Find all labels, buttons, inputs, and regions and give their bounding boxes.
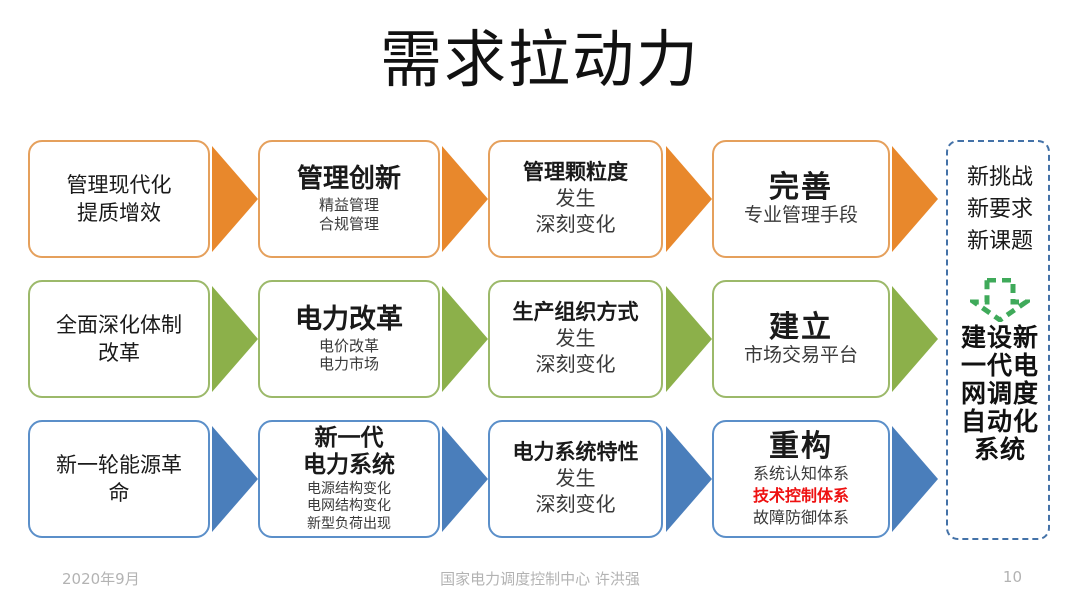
box-sub: 发生 深刻变化 bbox=[536, 325, 616, 377]
process-row-1: 管理现代化 提质增效 管理创新 精益管理 合规管理 管理颗粒度 发生 深刻变化 … bbox=[0, 140, 1080, 260]
process-row-3: 新一轮能源革 命 新一代 电力系统 电源结构变化 电网结构变化 新型负荷出现 电… bbox=[0, 420, 1080, 540]
footer-page-number: 10 bbox=[1003, 568, 1022, 586]
box-sub: 精益管理 合规管理 bbox=[319, 196, 379, 233]
outcome-panel-bottom-text: 建设新一代电网调度自动化系统 bbox=[956, 324, 1044, 464]
box-head: 管理现代化 提质增效 bbox=[67, 171, 172, 228]
process-box-r1c4[interactable]: 完善 专业管理手段 bbox=[712, 140, 890, 258]
process-box-r3c2[interactable]: 新一代 电力系统 电源结构变化 电网结构变化 新型负荷出现 bbox=[258, 420, 440, 538]
process-box-r1c1[interactable]: 管理现代化 提质增效 bbox=[28, 140, 210, 258]
process-box-r1c2[interactable]: 管理创新 精益管理 合规管理 bbox=[258, 140, 440, 258]
box-sub: 发生 深刻变化 bbox=[536, 465, 616, 517]
chevron-arrow-icon bbox=[666, 426, 712, 532]
box-head: 全面深化体制 改革 bbox=[56, 311, 182, 368]
chevron-arrow-icon bbox=[212, 426, 258, 532]
box-sub: 市场交易平台 bbox=[744, 344, 858, 367]
process-box-r2c4[interactable]: 建立 市场交易平台 bbox=[712, 280, 890, 398]
chevron-arrow-icon bbox=[892, 146, 938, 252]
box-head: 新一代 电力系统 bbox=[303, 425, 395, 479]
chevron-arrow-icon bbox=[442, 426, 488, 532]
box-sub: 电价改革 电力市场 bbox=[319, 337, 379, 374]
chevron-arrow-icon bbox=[212, 146, 258, 252]
footer-center-text: 国家电力调度控制中心 许洪强 bbox=[0, 568, 1080, 589]
box-head: 管理创新 bbox=[297, 165, 401, 194]
box-head: 建立 bbox=[769, 311, 833, 345]
box-sub-line: 系统认知体系 bbox=[753, 463, 849, 485]
page-title: 需求拉动力 bbox=[0, 24, 1080, 96]
box-sub: 系统认知体系技术控制体系故障防御体系 bbox=[753, 463, 849, 528]
box-sub: 电源结构变化 电网结构变化 新型负荷出现 bbox=[307, 481, 391, 534]
process-box-r2c3[interactable]: 生产组织方式 发生 深刻变化 bbox=[488, 280, 663, 398]
outcome-panel[interactable]: 新挑战 新要求 新课题 建设新一代电网调度自动化系统 bbox=[946, 140, 1050, 540]
box-sub-line: 故障防御体系 bbox=[753, 507, 849, 529]
box-head: 管理颗粒度 bbox=[523, 161, 628, 185]
outcome-panel-top-text: 新挑战 新要求 新课题 bbox=[948, 162, 1052, 258]
process-box-r3c1[interactable]: 新一轮能源革 命 bbox=[28, 420, 210, 538]
box-head: 电力改革 bbox=[295, 305, 403, 335]
chevron-arrow-icon bbox=[892, 286, 938, 392]
box-sub-line: 技术控制体系 bbox=[753, 485, 849, 507]
chevron-arrow-icon bbox=[212, 286, 258, 392]
process-box-r2c1[interactable]: 全面深化体制 改革 bbox=[28, 280, 210, 398]
process-box-r1c3[interactable]: 管理颗粒度 发生 深刻变化 bbox=[488, 140, 663, 258]
footer: 2020年9月 国家电力调度控制中心 许洪强 10 bbox=[0, 566, 1080, 594]
chevron-arrow-icon bbox=[666, 286, 712, 392]
box-head: 新一轮能源革 命 bbox=[56, 451, 182, 508]
box-head: 电力系统特性 bbox=[513, 441, 639, 465]
box-sub: 发生 深刻变化 bbox=[536, 185, 616, 237]
box-head: 重构 bbox=[769, 430, 833, 464]
process-box-r3c4[interactable]: 重构 系统认知体系技术控制体系故障防御体系 bbox=[712, 420, 890, 538]
box-head: 生产组织方式 bbox=[513, 301, 639, 325]
box-sub: 专业管理手段 bbox=[744, 204, 858, 227]
process-row-2: 全面深化体制 改革 电力改革 电价改革 电力市场 生产组织方式 发生 深刻变化 … bbox=[0, 280, 1080, 400]
process-box-r3c3[interactable]: 电力系统特性 发生 深刻变化 bbox=[488, 420, 663, 538]
chevron-arrow-icon bbox=[442, 286, 488, 392]
process-box-r2c2[interactable]: 电力改革 电价改革 电力市场 bbox=[258, 280, 440, 398]
chevron-arrow-icon bbox=[892, 426, 938, 532]
down-arrow-dashed-icon bbox=[970, 278, 1030, 322]
chevron-arrow-icon bbox=[442, 146, 488, 252]
box-head: 完善 bbox=[769, 171, 833, 205]
slide-canvas: 需求拉动力 管理现代化 提质增效 管理创新 精益管理 合规管理 管理颗粒度 发生… bbox=[0, 0, 1080, 608]
chevron-arrow-icon bbox=[666, 146, 712, 252]
